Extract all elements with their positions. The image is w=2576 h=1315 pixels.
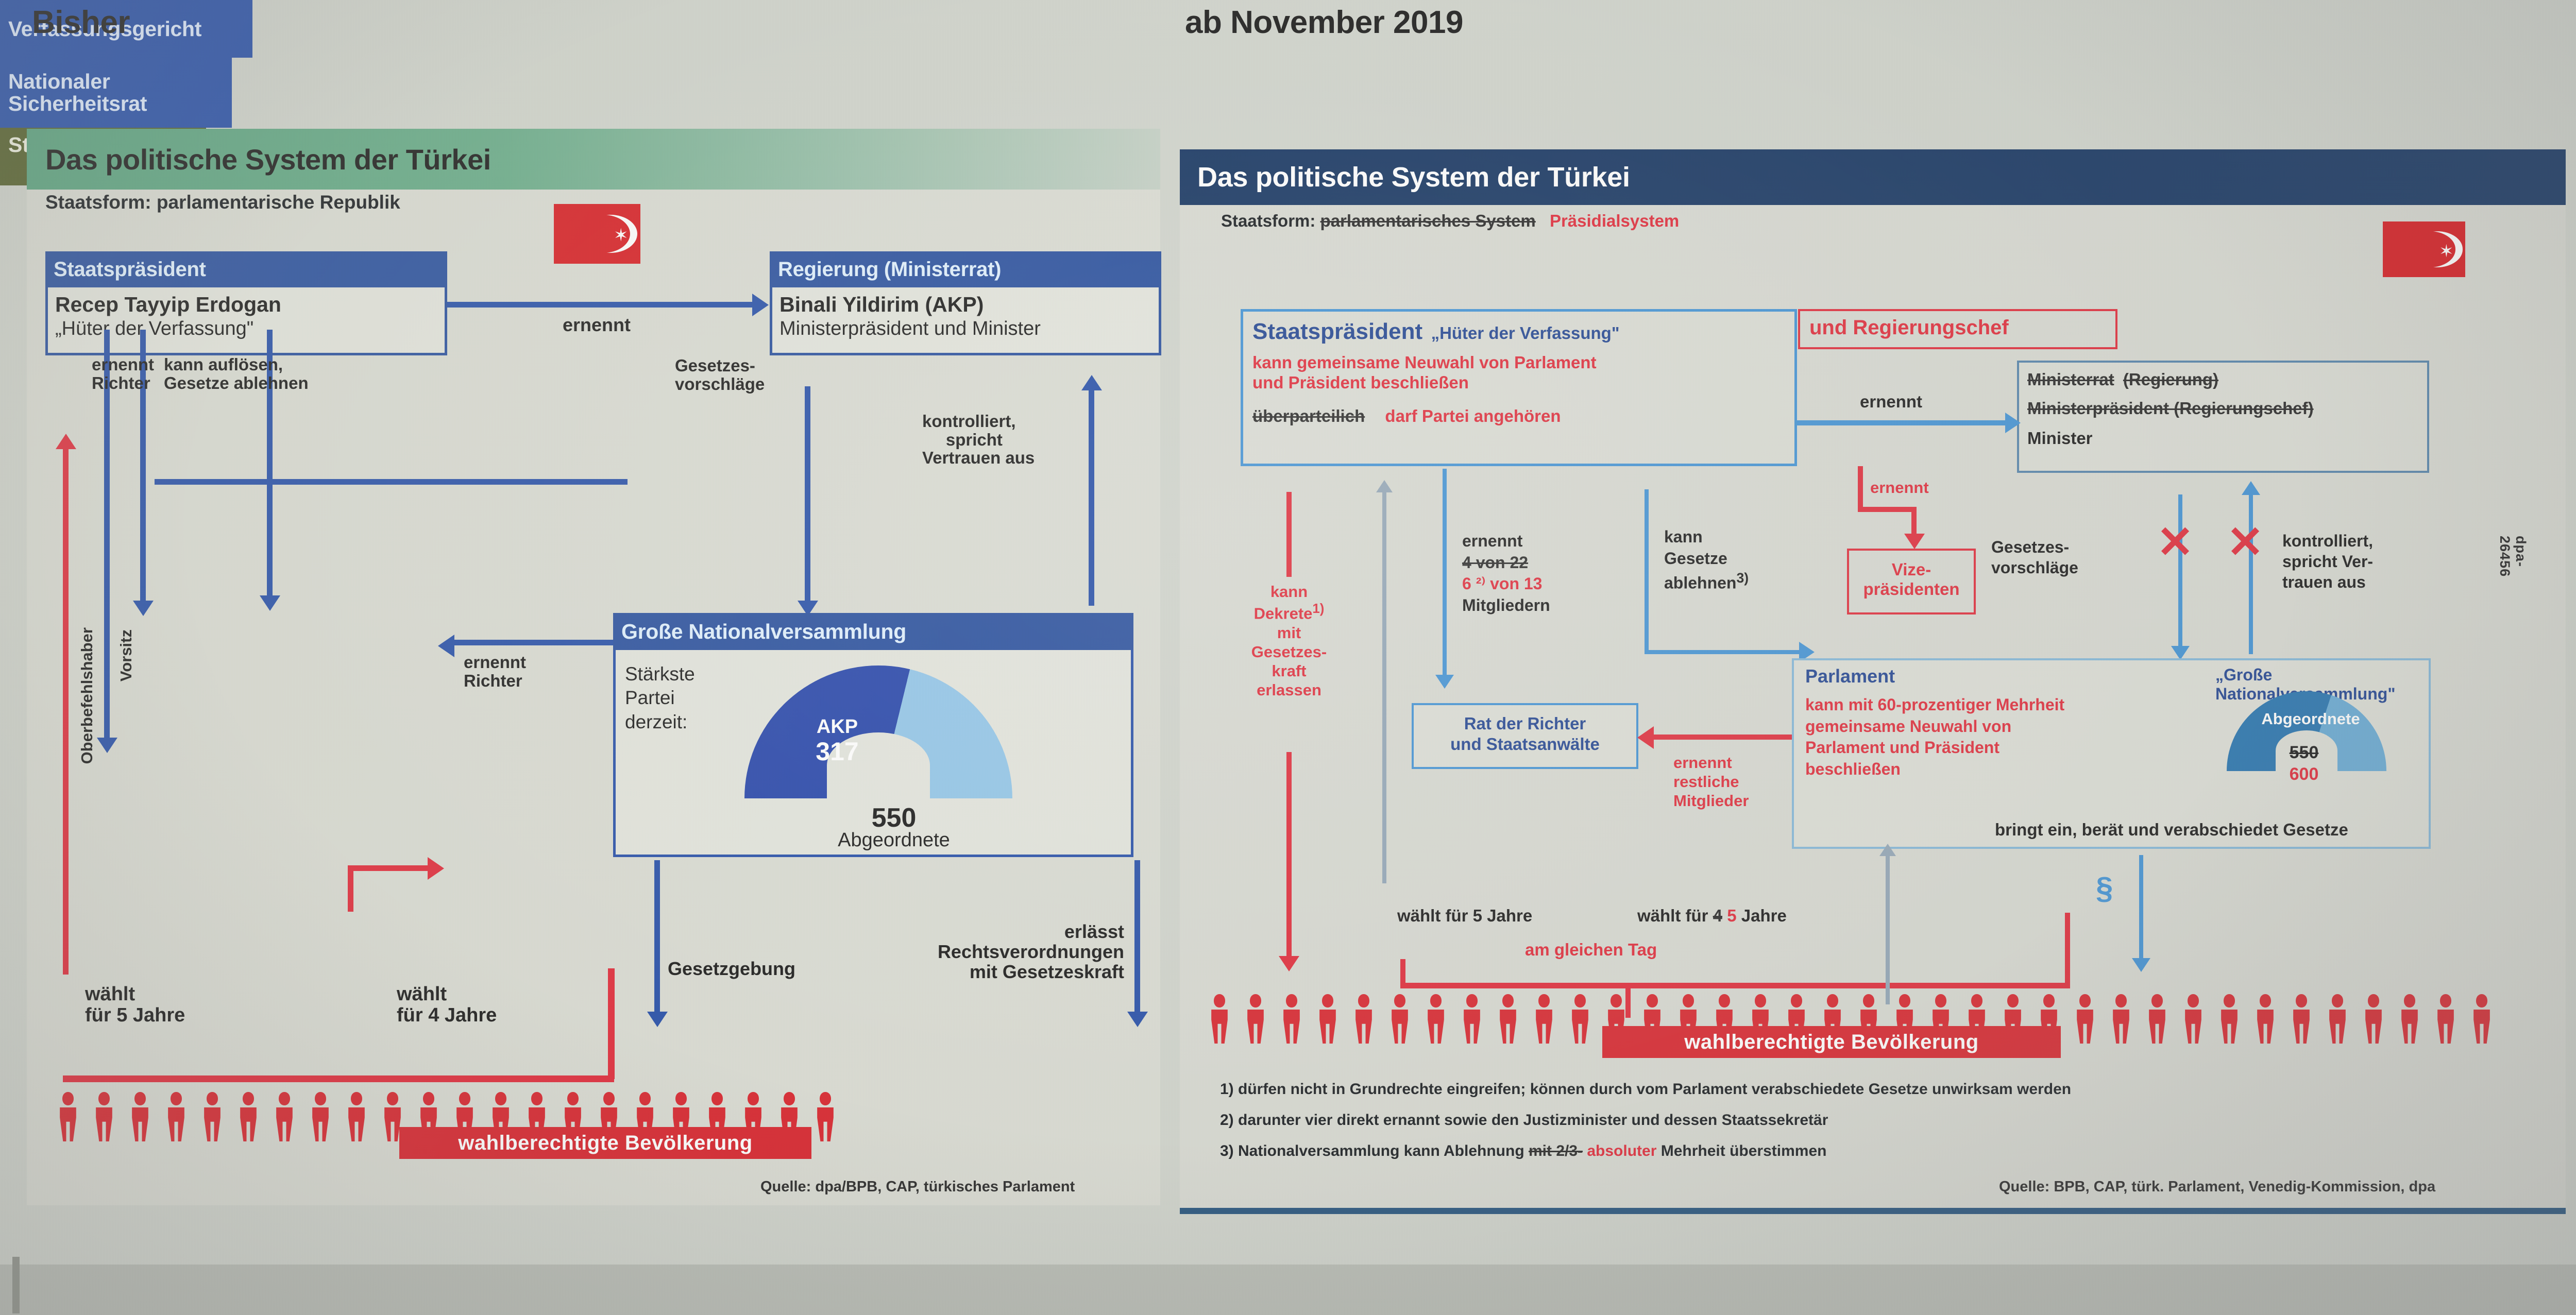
line-streitkraefte-v [348, 865, 353, 912]
arrow-dekrete-head [1279, 956, 1299, 971]
section-title-left: Bisher [32, 4, 130, 41]
cabinet-new: Minister [2019, 418, 2427, 448]
line-ernennt-richter-2 [452, 640, 622, 645]
label-ernennt-rest: ernenntrestlicheMitglieder [1673, 753, 1749, 811]
parliament-old-seats: 550 [2263, 743, 2345, 763]
arrow-vorsitz-head [97, 738, 117, 753]
label-kann-ablehnen: kannGesetzeablehnen3) [1664, 526, 1749, 594]
waehlt-prefix: wählt für [1637, 906, 1708, 925]
arrow-people-to-parliament-head [1879, 844, 1896, 856]
person-icon [1497, 994, 1519, 1044]
cabinet-old-1-suffix: (Regierung) [2123, 370, 2218, 389]
section-title-right: ab November 2019 [1185, 4, 1463, 41]
label-ernennt-richter-1: ernenntRichter [92, 355, 154, 392]
arrow-gesetzgebung-head [647, 1012, 668, 1027]
person-icon [1425, 994, 1447, 1044]
person-icon [1388, 994, 1411, 1044]
assembly-party-seats: 317 [786, 737, 889, 766]
waehlt-old-num: 4 [1713, 906, 1722, 925]
line-dekrete-top [1286, 492, 1292, 577]
judges-council-box: Rat der Richterund Staatsanwälte [1412, 703, 1638, 769]
monitor-bezel-mark [12, 1257, 20, 1313]
arrow-kann-aufloesen-head [260, 595, 280, 611]
person-icon [1569, 994, 1591, 1044]
security-council-box: Nationaler Sicherheitsrat [0, 58, 232, 128]
security-council-line1: Nationaler [8, 71, 110, 93]
footnote-3: 3) Nationalversammlung kann Ablehnung mi… [1220, 1142, 1826, 1160]
arrow-ernennt-richter-1-head [133, 601, 154, 616]
person-icon [93, 1092, 115, 1141]
vice-presidents-box: Vize-präsidenten [1847, 549, 1976, 614]
president-name-left: Recep Tayyip Erdogan [55, 293, 437, 317]
arrow-erlaesst-head [1127, 1012, 1148, 1027]
label-kontrolliert-right: kontrolliert,spricht Ver-trauen aus [2282, 531, 2373, 592]
label-oberbefehlshaber: Oberbefehlshaber [78, 627, 95, 764]
line-waehlt-bracket-h [63, 1075, 614, 1082]
waehlt-suffix: Jahre [1741, 906, 1787, 925]
label-waehlt5-right: wählt für 5 Jahre [1397, 907, 1532, 925]
line-ernennt-vize-v2 [1911, 510, 1917, 536]
person-icon [1533, 994, 1555, 1044]
line-waehlt-bracket-right [1400, 983, 2070, 988]
label-ernennt-judges: ernennt 4 von 22 6 ²⁾ von 13 Mitgliedern [1462, 531, 1550, 616]
judges-council-label: Rat der Richterund Staatsanwälte [1414, 705, 1636, 754]
person-icon [2110, 994, 2132, 1044]
line-kann-aufloesen-h [155, 479, 628, 485]
person-icon [309, 1092, 332, 1141]
footnote-3-lead: 3) Nationalversammlung kann Ablehnung [1220, 1142, 1524, 1159]
assembly-head-left: Große Nationalversammlung [613, 613, 1133, 650]
footnote-3-new: absoluter [1587, 1142, 1656, 1159]
line-ernennt-rest [1654, 735, 1798, 740]
line-oberbefehlshaber [63, 448, 69, 975]
ernennt-judges-tail: Mitgliedern [1462, 596, 1550, 614]
turkey-flag-left: ✶ [554, 204, 640, 264]
president-head-right: Staatspräsident [1252, 319, 1422, 344]
footnote-1: 1) dürfen nicht in Grundrechte eingreife… [1220, 1081, 2071, 1098]
line-dekrete-bottom [1286, 752, 1292, 958]
electorate-band-right: wahlberechtigte Bevölkerung [1602, 1026, 2061, 1058]
person-icon [2326, 994, 2349, 1044]
government-name-left: Binali Yildirim (AKP) [779, 293, 1151, 317]
label-waehlt4-left: wähltfür 4 Jahre [397, 984, 497, 1026]
person-icon [1461, 994, 1483, 1044]
person-icon [2362, 994, 2385, 1044]
panel-right-header: Das politische System der Türkei [1180, 149, 2566, 205]
person-icon [2074, 994, 2096, 1044]
staatsform-prefix: Staatsform: [1221, 211, 1315, 230]
person-icon [2470, 994, 2493, 1044]
person-icon [2182, 994, 2205, 1044]
line-parliament-to-president [1382, 492, 1386, 883]
arrow-gesetzesvorschlaege-right-head [2171, 646, 2190, 660]
label-ernennt-cabinet: ernennt [1860, 392, 1922, 411]
label-waehlt5-left: wähltfür 5 Jahre [85, 984, 185, 1026]
footnote-2: 2) darunter vier direkt ernannt sowie de… [1220, 1112, 1828, 1129]
person-icon [2290, 994, 2313, 1044]
arrow-streitkraefte-head [428, 857, 444, 880]
assembly-strongest-label: StärksteParteiderzeit: [625, 662, 695, 734]
footnote-3-tail: Mehrheit überstimmen [1661, 1142, 1827, 1159]
person-icon [1352, 994, 1375, 1044]
footnote-3-old: mit 2/3- [1529, 1142, 1583, 1159]
dpa-code: dpa-26456 [2497, 536, 2529, 596]
parliament-new-seats: 600 [2263, 764, 2345, 784]
line-kann-ablehnen-v [1645, 489, 1649, 654]
cabinet-box-right: Ministerrat (Regierung) Ministerpräsiden… [2017, 361, 2429, 473]
line-section-symbol [2139, 855, 2143, 961]
person-icon [129, 1092, 151, 1141]
vice-presidents-label: Vize-präsidenten [1849, 551, 1974, 599]
staatsform-new: Präsidialsystem [1550, 211, 1679, 230]
label-erlaesst: erlässtRechtsverordnungenmit Gesetzeskra… [861, 922, 1124, 982]
line-ernennt-vize-h [1858, 507, 1917, 512]
label-kontrolliert-left: kontrolliert, sprichtVertrauen aus [922, 412, 1035, 467]
label-gesetzesvorschlaege-left: Gesetzes-vorschläge [675, 356, 765, 393]
arrow-ernennt-judges-head [1435, 675, 1454, 689]
line-ernennt-vize-v1 [1858, 466, 1863, 510]
line-streitkraefte-h [348, 865, 430, 871]
person-icon [814, 1092, 837, 1141]
panel-right-bottom-rule [1180, 1208, 2566, 1214]
security-council-line2: Sicherheitsrat [8, 93, 147, 115]
person-icon [237, 1092, 260, 1141]
president-also-label: und Regierungschef [1800, 311, 2115, 339]
person-icon [2218, 994, 2241, 1044]
person-icon [201, 1092, 224, 1141]
parliament-box-right: Parlament „Große Nationalversammlung" ka… [1792, 658, 2431, 849]
electorate-band-left: wahlberechtigte Bevölkerung [399, 1127, 811, 1159]
president-head-left: Staatspräsident [45, 251, 447, 287]
ernennt-judges-new: 6 ²⁾ von 13 [1462, 574, 1542, 593]
source-right: Quelle: BPB, CAP, türk. Parlament, Vened… [1999, 1179, 2435, 1196]
arrow-oberbefehlshaber-head [56, 434, 76, 449]
arrow-ernennt-richter-2-head [438, 635, 454, 657]
person-icon [1280, 994, 1303, 1044]
ernennt-judges-head: ernennt [1462, 532, 1522, 550]
arrow-section-symbol-head [2132, 958, 2150, 972]
source-left: Quelle: dpa/BPB, CAP, türkisches Parlame… [760, 1179, 1075, 1196]
line-people-to-parliament [1886, 855, 1890, 1004]
arrow-kontrolliert-head [1081, 375, 1102, 390]
label-waehlt-right: wählt für 4 5 Jahre [1637, 907, 1787, 925]
president-box-right: Staatspräsident „Hüter der Verfassung" k… [1241, 309, 1797, 466]
president-also-box: und Regierungschef [1798, 309, 2117, 349]
government-head-left: Regierung (Ministerrat) [770, 251, 1161, 287]
x-mark-kontrolliert: ✕ [2227, 520, 2264, 565]
arrow-parliament-to-president-head [1376, 480, 1393, 492]
arrow-ernennt-vize-head [1904, 534, 1925, 549]
person-icon [1316, 994, 1339, 1044]
person-icon [2146, 994, 2168, 1044]
president-old-neutral: überparteilich [1252, 406, 1365, 425]
president-role-left: „Hüter der Verfassung" [55, 318, 437, 340]
section-symbol: § [2096, 870, 2113, 906]
ernennt-judges-old: 4 von 22 [1462, 553, 1528, 572]
monitor-bezel [0, 1265, 2576, 1315]
person-icon [273, 1092, 296, 1141]
person-icon [2398, 994, 2421, 1044]
staatsform-left: Staatsform: parlamentarische Republik [45, 192, 400, 213]
label-same-day: am gleichen Tag [1525, 941, 1657, 959]
president-new-party: darf Partei angehören [1385, 406, 1561, 425]
president-new-power: kann gemeinsame Neuwahl von Parlamentund… [1243, 345, 1794, 393]
line-gesetzesvorschlaege [805, 386, 810, 603]
line-kontrolliert [1089, 389, 1094, 606]
assembly-total-seats: 550 [837, 802, 951, 833]
line-ernennt-cabinet [1797, 420, 2008, 425]
president-quote-right: „Hüter der Verfassung" [1431, 323, 1620, 343]
government-box-left: Regierung (Ministerrat) Binali Yildirim … [770, 251, 1161, 355]
person-icon [345, 1092, 368, 1141]
label-vorsitz: Vorsitz [117, 629, 134, 681]
arrow-ernennt-rest-head [1637, 726, 1654, 749]
x-mark-gesetzesvorschlaege: ✕ [2157, 520, 2194, 565]
person-icon [57, 1092, 79, 1141]
assembly-total-label: Abgeordnete [822, 829, 966, 851]
assembly-box-left: Große Nationalversammlung StärkstePartei… [613, 613, 1133, 857]
label-gesetzgebung: Gesetzgebung [668, 959, 795, 979]
arrow-ernennt-gov-line [447, 302, 754, 308]
line-kann-ablehnen-h [1645, 650, 1802, 654]
label-gesetzesvorschlaege-right: Gesetzes-vorschläge [1991, 537, 2078, 578]
staatsform-right: Staatsform: parlamentarisches System Prä… [1221, 211, 1679, 231]
person-icon [2434, 994, 2457, 1044]
line-waehlt-right-v [2065, 913, 2070, 985]
cabinet-old-2: Ministerpräsident (Regierungschef) [2027, 399, 2314, 418]
line-gesetzgebung [654, 860, 660, 1015]
assembly-party-label: AKP [786, 716, 889, 738]
arrow-ernennt-cabinet-head [2005, 413, 2021, 433]
arrow-ernennt-gov-head [752, 294, 769, 316]
person-icon [1208, 994, 1231, 1044]
turkey-flag-right: ✶ [2383, 221, 2465, 277]
line-erlaesst [1134, 860, 1140, 1015]
waehlt-new-num: 5 [1727, 906, 1736, 925]
person-icon [1244, 994, 1267, 1044]
line-waehlt4-v [608, 968, 615, 1079]
person-icon [2254, 994, 2277, 1044]
label-ernennt-vize: ernennt [1870, 479, 1929, 496]
government-role-left: Ministerpräsident und Minister [779, 318, 1151, 340]
cabinet-old-1: Ministerrat [2027, 370, 2114, 389]
panel-left-header: Das politische System der Türkei [27, 129, 1160, 190]
label-ernennt-richter-2: ernenntRichter [464, 653, 526, 690]
line-ernennt-judges [1443, 469, 1447, 677]
person-icon [165, 1092, 188, 1141]
label-ernennt-gov-left: ernennt [563, 315, 631, 335]
label-dekrete: kannDekrete1)mitGesetzes-krafterlassen [1232, 582, 1346, 699]
parliament-chart-label: Abgeordnete [2251, 710, 2370, 728]
arrow-kontrolliert-right-head [2242, 481, 2260, 495]
label-kann-aufloesen: kann auflösen,Gesetze ablehnen [164, 355, 309, 392]
staatsform-old: parlamentarisches System [1320, 211, 1536, 230]
